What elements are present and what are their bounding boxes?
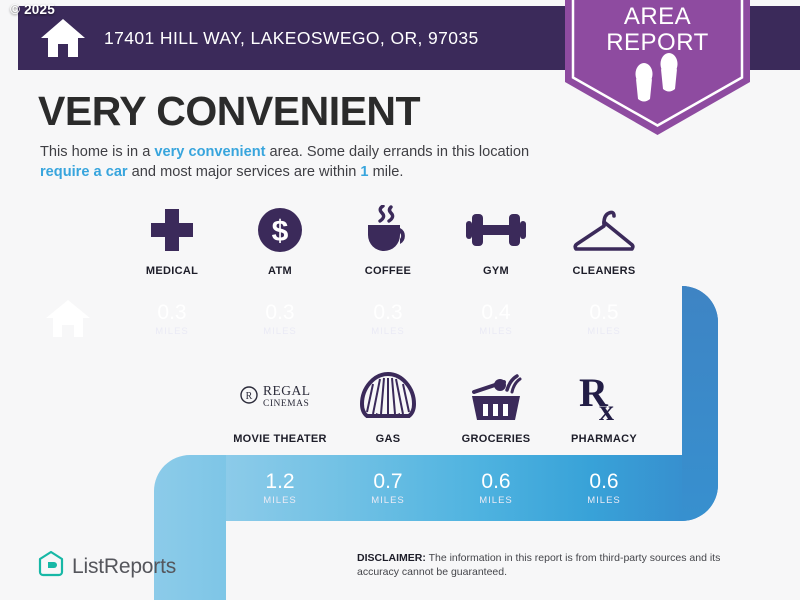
shell-logo bbox=[360, 372, 416, 424]
distance-unit: MILES bbox=[587, 495, 621, 506]
amenity-gym: GYM bbox=[442, 204, 550, 277]
amenity-icon-row-top: MEDICAL $ ATM COFFEE bbox=[118, 204, 658, 277]
amenity-label: GYM bbox=[483, 265, 509, 277]
amenity-label: ATM bbox=[268, 265, 292, 277]
home-marker-cell bbox=[18, 286, 118, 352]
badge-text: AREA REPORT bbox=[565, 4, 750, 56]
badge-line-2: REPORT bbox=[565, 30, 750, 56]
home-icon bbox=[40, 17, 86, 59]
summary-highlight-2: require a car bbox=[40, 164, 128, 180]
disclaimer: DISCLAIMER: The information in this repo… bbox=[357, 551, 757, 579]
distance-row-top: 0.3 MILES 0.3 MILES 0.3 MILES 0.4 MILES … bbox=[118, 286, 658, 352]
amenity-medical: MEDICAL bbox=[118, 204, 226, 277]
area-report-page: © 2025 17401 HILL WAY, LAKEOSWEGO, OR, 9… bbox=[0, 0, 800, 600]
listreports-house-icon bbox=[38, 550, 64, 583]
distance-cell: 0.3 MILES bbox=[334, 286, 442, 352]
dumbbell-icon bbox=[466, 204, 526, 256]
amenity-pharmacy: R x PHARMACY bbox=[550, 372, 658, 445]
amenity-label: COFFEE bbox=[365, 265, 411, 277]
listreports-logo: ListReports bbox=[38, 550, 176, 583]
amenity-gas: GAS bbox=[334, 372, 442, 445]
amenity-groceries: GROCERIES bbox=[442, 372, 550, 445]
amenity-label: PHARMACY bbox=[571, 433, 637, 445]
area-report-badge: AREA REPORT bbox=[565, 0, 750, 137]
distance-cell: 0.3 MILES bbox=[118, 286, 226, 352]
atm-dollar-icon: $ bbox=[255, 204, 305, 256]
summary-part-2: area. Some daily errands in this locatio… bbox=[266, 144, 530, 160]
amenity-icon-row-bottom: R REGAL CINEMAS MOVIE THEATER bbox=[226, 372, 658, 445]
distance-unit: MILES bbox=[371, 495, 405, 506]
svg-text:R: R bbox=[246, 391, 253, 402]
distance-row-bottom: 1.2 MILES 0.7 MILES 0.6 MILES 0.6 MILES bbox=[226, 455, 658, 521]
distance-cell: 0.4 MILES bbox=[442, 286, 550, 352]
summary-part-1: This home is in a bbox=[40, 144, 154, 160]
summary-part-4: mile. bbox=[369, 164, 404, 180]
amenity-label: GROCERIES bbox=[462, 433, 531, 445]
distance-value: 0.7 bbox=[373, 471, 402, 493]
distance-value: 1.2 bbox=[265, 471, 294, 493]
distance-value: 0.4 bbox=[481, 302, 510, 324]
distance-cell: 0.6 MILES bbox=[550, 455, 658, 521]
distance-value: 0.3 bbox=[373, 302, 402, 324]
amenity-label: MEDICAL bbox=[146, 265, 198, 277]
distance-unit: MILES bbox=[587, 326, 621, 337]
copyright-watermark: © 2025 bbox=[10, 2, 55, 17]
svg-text:REGAL: REGAL bbox=[263, 383, 311, 398]
page-title: VERY CONVENIENT bbox=[38, 88, 420, 135]
amenity-movie-theater: R REGAL CINEMAS MOVIE THEATER bbox=[226, 372, 334, 445]
svg-text:x: x bbox=[599, 394, 614, 424]
rx-pharmacy-icon: R x bbox=[577, 372, 631, 424]
distance-unit: MILES bbox=[479, 495, 513, 506]
distance-value: 0.6 bbox=[481, 471, 510, 493]
property-address: 17401 HILL WAY, LAKEOSWEGO, OR, 97035 bbox=[104, 28, 479, 49]
amenity-label: CLEANERS bbox=[573, 265, 636, 277]
medical-cross-icon bbox=[147, 204, 197, 256]
distance-unit: MILES bbox=[479, 326, 513, 337]
distance-cell: 0.6 MILES bbox=[442, 455, 550, 521]
amenity-label: MOVIE THEATER bbox=[233, 433, 327, 445]
distance-cell: 1.2 MILES bbox=[226, 455, 334, 521]
distance-value: 0.5 bbox=[589, 302, 618, 324]
summary-text: This home is in a very convenient area. … bbox=[40, 142, 560, 182]
summary-highlight-3: 1 bbox=[360, 164, 368, 180]
summary-highlight-1: very convenient bbox=[154, 144, 265, 160]
svg-text:CINEMAS: CINEMAS bbox=[263, 399, 309, 409]
amenity-cleaners: CLEANERS bbox=[550, 204, 658, 277]
summary-part-3: and most major services are within bbox=[128, 164, 361, 180]
badge-line-1: AREA bbox=[565, 4, 750, 30]
regal-cinemas-logo: R REGAL CINEMAS bbox=[237, 372, 323, 424]
grocery-basket-icon bbox=[466, 372, 526, 424]
distance-unit: MILES bbox=[155, 326, 189, 337]
amenity-coffee: COFFEE bbox=[334, 204, 442, 277]
listreports-wordmark: ListReports bbox=[72, 555, 176, 579]
distance-value: 0.3 bbox=[265, 302, 294, 324]
distance-value: 0.3 bbox=[157, 302, 186, 324]
amenity-label: GAS bbox=[376, 433, 401, 445]
disclaimer-label: DISCLAIMER: bbox=[357, 552, 426, 564]
coffee-cup-icon bbox=[362, 204, 414, 256]
distance-cell: 0.5 MILES bbox=[550, 286, 658, 352]
distance-cell: 0.3 MILES bbox=[226, 286, 334, 352]
amenity-atm: $ ATM bbox=[226, 204, 334, 277]
distance-unit: MILES bbox=[263, 326, 297, 337]
svg-text:$: $ bbox=[272, 215, 289, 248]
distance-unit: MILES bbox=[371, 326, 405, 337]
distance-unit: MILES bbox=[263, 495, 297, 506]
distance-cell: 0.7 MILES bbox=[334, 455, 442, 521]
distance-value: 0.6 bbox=[589, 471, 618, 493]
hanger-icon bbox=[573, 204, 635, 256]
